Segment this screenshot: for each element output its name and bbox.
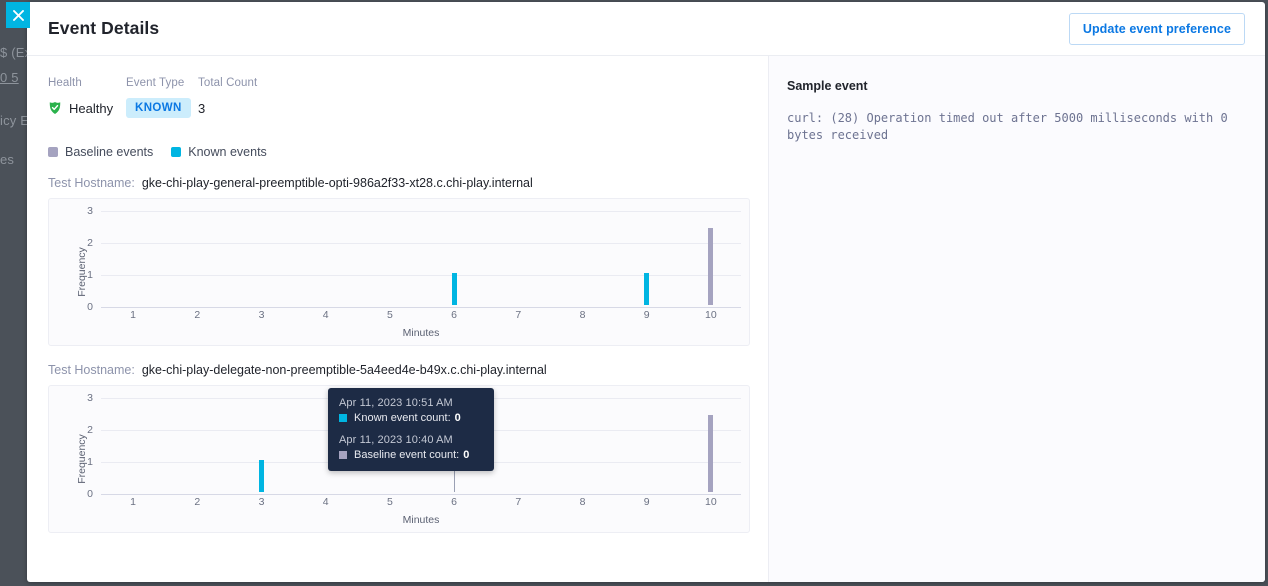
- background-text-fragment: icy E: [0, 113, 29, 128]
- y-axis-tick-label: 0: [73, 301, 93, 313]
- event-meta-row: Health Healthy Event Ty: [48, 77, 768, 119]
- tooltip-series-value: 0: [463, 449, 469, 461]
- tooltip-group: Apr 11, 2023 10:51 AMKnown event count:0: [339, 397, 483, 424]
- plot-area: [101, 211, 741, 305]
- close-icon: [13, 10, 24, 21]
- y-axis-ticks: 0123: [73, 386, 93, 532]
- legend-label-known: Known events: [188, 145, 267, 159]
- meta-health-value-wrap: Healthy: [48, 97, 126, 119]
- modal-body: Health Healthy Event Ty: [27, 56, 1265, 582]
- update-event-preference-button[interactable]: Update event preference: [1069, 13, 1245, 45]
- legend-label-baseline: Baseline events: [65, 145, 153, 159]
- meta-health: Health Healthy: [48, 77, 126, 119]
- chart-bar[interactable]: [708, 228, 713, 305]
- y-axis-tick-label: 1: [73, 456, 93, 468]
- hostname-line-1: Test Hostname: gke-chi-play-general-pree…: [48, 176, 768, 190]
- x-axis-tick-label: 2: [194, 309, 200, 321]
- x-axis-line: [101, 494, 741, 495]
- tooltip-series-value: 0: [455, 412, 461, 424]
- hostname-value-1: gke-chi-play-general-preemptible-opti-98…: [142, 176, 533, 190]
- y-axis-tick-label: 2: [73, 424, 93, 436]
- meta-total-count: Total Count 3: [198, 77, 278, 119]
- x-axis-tick-label: 4: [323, 496, 329, 508]
- gridline: [101, 211, 741, 212]
- legend-item-known-events[interactable]: Known events: [171, 145, 267, 159]
- hostname-label-2: Test Hostname:: [48, 363, 135, 377]
- background-text-fragment: es: [0, 152, 14, 167]
- close-modal-button[interactable]: [6, 2, 30, 28]
- x-axis-tick-label: 1: [130, 496, 136, 508]
- hostname-line-2: Test Hostname: gke-chi-play-delegate-non…: [48, 363, 768, 377]
- screen: $ (Ex0 5icy Ees Event Details Update eve…: [0, 0, 1268, 586]
- chart-bar[interactable]: [259, 460, 264, 492]
- meta-event-type-label: Event Type: [126, 77, 198, 89]
- x-axis-title: Minutes: [101, 514, 741, 526]
- chart-bar[interactable]: [708, 415, 713, 492]
- x-axis-tick-label: 5: [387, 496, 393, 508]
- tooltip-series-label: Known event count:: [354, 412, 451, 424]
- left-column: Health Healthy Event Ty: [27, 56, 768, 582]
- chart-bar[interactable]: [452, 273, 457, 305]
- x-axis-ticks: 12345678910: [101, 309, 741, 323]
- x-axis-tick-label: 7: [515, 309, 521, 321]
- x-axis-title: Minutes: [101, 327, 741, 339]
- x-axis-tick-label: 6: [451, 309, 457, 321]
- y-axis-tick-label: 3: [73, 392, 93, 404]
- x-axis-tick-label: 3: [259, 496, 265, 508]
- page-title: Event Details: [48, 18, 159, 39]
- x-axis-tick-label: 8: [580, 496, 586, 508]
- x-axis-line: [101, 307, 741, 308]
- y-axis-ticks: 0123: [73, 199, 93, 345]
- x-axis-tick-label: 7: [515, 496, 521, 508]
- tooltip-series-label: Baseline event count:: [354, 449, 459, 461]
- legend-item-baseline-events[interactable]: Baseline events: [48, 145, 153, 159]
- background-text-fragment: 0 5: [0, 70, 19, 85]
- y-axis-tick-label: 0: [73, 488, 93, 500]
- x-axis-tick-label: 9: [644, 496, 650, 508]
- sample-event-panel: Sample event curl: (28) Operation timed …: [768, 56, 1265, 582]
- x-axis-tick-label: 9: [644, 309, 650, 321]
- status-badge: KNOWN: [126, 98, 191, 118]
- y-axis-tick-label: 1: [73, 269, 93, 281]
- frequency-chart-2[interactable]: Frequency012312345678910Minutes Apr 11, …: [48, 385, 750, 533]
- gridline: [101, 243, 741, 244]
- tooltip-series-swatch: [339, 414, 347, 422]
- meta-event-type: Event Type KNOWN: [126, 77, 198, 119]
- hostname-label-1: Test Hostname:: [48, 176, 135, 190]
- hostname-value-2: gke-chi-play-delegate-non-preemptible-5a…: [142, 363, 547, 377]
- tooltip-timestamp: Apr 11, 2023 10:51 AM: [339, 397, 483, 409]
- frequency-chart-1[interactable]: Frequency012312345678910Minutes: [48, 198, 750, 346]
- tooltip-series-row: Known event count:0: [339, 412, 483, 424]
- x-axis-tick-label: 1: [130, 309, 136, 321]
- y-axis-tick-label: 2: [73, 237, 93, 249]
- chart-legend: Baseline events Known events: [48, 145, 768, 159]
- x-axis-tick-label: 2: [194, 496, 200, 508]
- meta-total-count-label: Total Count: [198, 77, 278, 89]
- x-axis-tick-label: 4: [323, 309, 329, 321]
- health-shield-check-icon: [48, 101, 62, 115]
- tooltip-group: Apr 11, 2023 10:40 AMBaseline event coun…: [339, 434, 483, 461]
- x-axis-ticks: 12345678910: [101, 496, 741, 510]
- y-axis-tick-label: 3: [73, 205, 93, 217]
- x-axis-tick-label: 8: [580, 309, 586, 321]
- meta-health-label: Health: [48, 77, 126, 89]
- meta-total-count-value: 3: [198, 97, 278, 119]
- chart-bar[interactable]: [644, 273, 649, 305]
- tooltip-series-row: Baseline event count:0: [339, 449, 483, 461]
- tooltip-timestamp: Apr 11, 2023 10:40 AM: [339, 434, 483, 446]
- x-axis-tick-label: 5: [387, 309, 393, 321]
- legend-swatch-known: [171, 147, 181, 157]
- tooltip-series-swatch: [339, 451, 347, 459]
- meta-health-value: Healthy: [69, 101, 113, 116]
- chart-inner: Frequency012312345678910Minutes: [49, 199, 749, 345]
- x-axis-tick-label: 6: [451, 496, 457, 508]
- chart-tooltip: Apr 11, 2023 10:51 AMKnown event count:0…: [328, 388, 494, 471]
- x-axis-tick-label: 3: [259, 309, 265, 321]
- sample-event-text: curl: (28) Operation timed out after 500…: [787, 110, 1245, 144]
- modal-header: Event Details Update event preference: [27, 2, 1265, 56]
- x-axis-tick-label: 10: [705, 309, 717, 321]
- x-axis-tick-label: 10: [705, 496, 717, 508]
- event-details-modal: Event Details Update event preference He…: [27, 2, 1265, 582]
- meta-event-type-value-wrap: KNOWN: [126, 97, 198, 119]
- sample-event-title: Sample event: [787, 79, 1245, 93]
- legend-swatch-baseline: [48, 147, 58, 157]
